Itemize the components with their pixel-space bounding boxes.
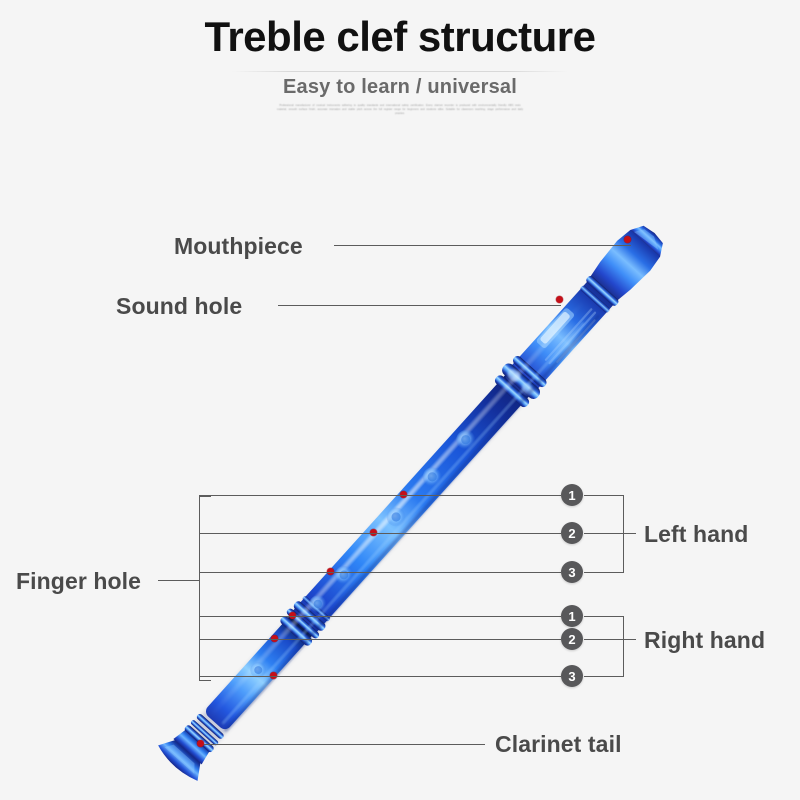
label-finger-hole: Finger hole [16, 568, 141, 595]
badge-right-hole-3: 3 [561, 665, 583, 687]
badge-left-hole-1: 1 [561, 484, 583, 506]
leader-line-right-hole-1 [199, 616, 561, 617]
label-sound-hole: Sound hole [116, 293, 242, 320]
left-hand-arm-3 [584, 572, 624, 573]
bracket-finger-hole [199, 496, 200, 680]
left-hand-stub [584, 533, 636, 534]
right-hand-arm-1 [584, 616, 624, 617]
right-hand-arm-3 [584, 676, 624, 677]
marker-dot-mouthpiece [624, 236, 631, 243]
bracket-right-hand [623, 616, 624, 677]
badge-left-hole-3: 3 [561, 561, 583, 583]
leader-line-sound-hole [278, 305, 561, 306]
left-hand-arm-1 [584, 495, 624, 496]
clarinet-recorder-illustration [0, 0, 800, 800]
leader-line-clarinet-tail [204, 744, 485, 745]
leader-line-left-hole-1 [199, 495, 561, 496]
marker-dot-clarinet-tail [197, 740, 204, 747]
leader-line-finger-hole [158, 580, 200, 581]
leader-line-right-hole-2 [199, 639, 561, 640]
badge-right-hole-1: 1 [561, 605, 583, 627]
badge-left-hole-2: 2 [561, 522, 583, 544]
leader-line-left-hole-3 [199, 572, 561, 573]
bracket-finger-hole-bottom-arm [199, 680, 211, 681]
label-mouthpiece: Mouthpiece [174, 233, 303, 260]
leader-line-mouthpiece [334, 245, 631, 246]
label-right-hand: Right hand [644, 627, 765, 654]
label-left-hand: Left hand [644, 521, 748, 548]
leader-line-right-hole-3 [199, 676, 561, 677]
label-clarinet-tail: Clarinet tail [495, 731, 622, 758]
badge-right-hole-2: 2 [561, 628, 583, 650]
marker-dot-sound-hole [556, 296, 563, 303]
infographic-canvas: Treble clef structure Easy to learn / un… [0, 0, 800, 800]
right-hand-stub [584, 639, 636, 640]
bracket-left-hand [623, 495, 624, 573]
bracket-finger-hole-top-arm [199, 496, 211, 497]
leader-line-left-hole-2 [199, 533, 561, 534]
